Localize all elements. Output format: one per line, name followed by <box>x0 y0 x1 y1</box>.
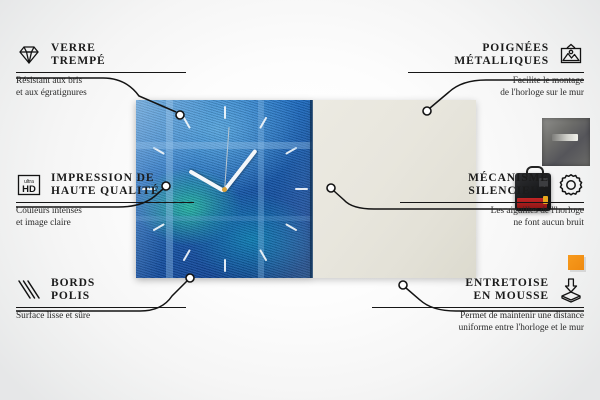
feature-bords-polis[interactable]: BORDSPOLIS Surface lisse et sûre <box>16 277 186 323</box>
svg-text:HD: HD <box>22 184 36 195</box>
feature-header: BORDSPOLIS <box>16 277 186 304</box>
foam-spacer <box>568 255 584 270</box>
feature-description: Surface lisse et sûre <box>16 311 186 322</box>
feature-divider <box>16 307 186 309</box>
feature-entretoise-en-mousse[interactable]: ENTRETOISEEN MOUSSE Permet de maintenir … <box>372 277 584 334</box>
metal-hanger-plate <box>542 118 590 166</box>
feature-description: Permet de maintenir une distanceuniforme… <box>372 311 584 334</box>
hanger-slot <box>552 134 578 141</box>
foam-spacer-arrow-icon <box>558 277 584 303</box>
feature-header: ENTRETOISEEN MOUSSE <box>372 277 584 304</box>
feature-description: Facilite le montagede l'horloge sur le m… <box>408 76 584 99</box>
panel-seam <box>310 100 313 278</box>
feature-description: Couleurs intenseset image claire <box>16 206 194 229</box>
picture-frame-hook-icon <box>558 42 584 68</box>
infographic-canvas: VERRETREMPÉ Résistant aux briset aux égr… <box>0 0 600 400</box>
feature-divider <box>16 202 194 204</box>
gear-icon <box>558 172 584 198</box>
clock-tick <box>295 188 308 190</box>
feature-title: BORDSPOLIS <box>51 277 95 304</box>
feature-title: VERRETREMPÉ <box>51 42 106 69</box>
feature-title: IMPRESSION DEHAUTE QUALITÉ <box>51 172 160 199</box>
diamond-icon <box>16 42 42 68</box>
clock-center-cap <box>222 187 227 192</box>
feature-header: ultra HD IMPRESSION DEHAUTE QUALITÉ <box>16 172 194 199</box>
feature-impression-haute-qualite[interactable]: ultra HD IMPRESSION DEHAUTE QUALITÉ Coul… <box>16 172 194 229</box>
feature-divider <box>16 72 186 74</box>
feature-divider <box>408 72 584 74</box>
feature-verre-trempe[interactable]: VERRETREMPÉ Résistant aux briset aux égr… <box>16 42 186 99</box>
feature-header: MÉCANISMESILENCIEUX <box>400 172 584 199</box>
feature-title: POIGNÉESMÉTALLIQUES <box>454 42 549 69</box>
feature-header: VERRETREMPÉ <box>16 42 186 69</box>
feature-poignees-metalliques[interactable]: POIGNÉESMÉTALLIQUES Facilite le montaged… <box>408 42 584 99</box>
feature-description: Les aiguilles de l'horlogene font aucun … <box>400 206 584 229</box>
clock-tick <box>224 106 226 119</box>
feature-divider <box>372 307 584 309</box>
polished-edges-icon <box>16 277 42 303</box>
ultra-hd-icon: ultra HD <box>16 172 42 198</box>
feature-title: MÉCANISMESILENCIEUX <box>468 172 549 199</box>
feature-divider <box>400 202 584 204</box>
feature-description: Résistant aux briset aux égratignures <box>16 76 186 99</box>
clock-tick <box>224 259 226 272</box>
feature-title: ENTRETOISEEN MOUSSE <box>465 277 549 304</box>
feature-mecanisme-silencieux[interactable]: MÉCANISMESILENCIEUX Les aiguilles de l'h… <box>400 172 584 229</box>
feature-header: POIGNÉESMÉTALLIQUES <box>408 42 584 69</box>
